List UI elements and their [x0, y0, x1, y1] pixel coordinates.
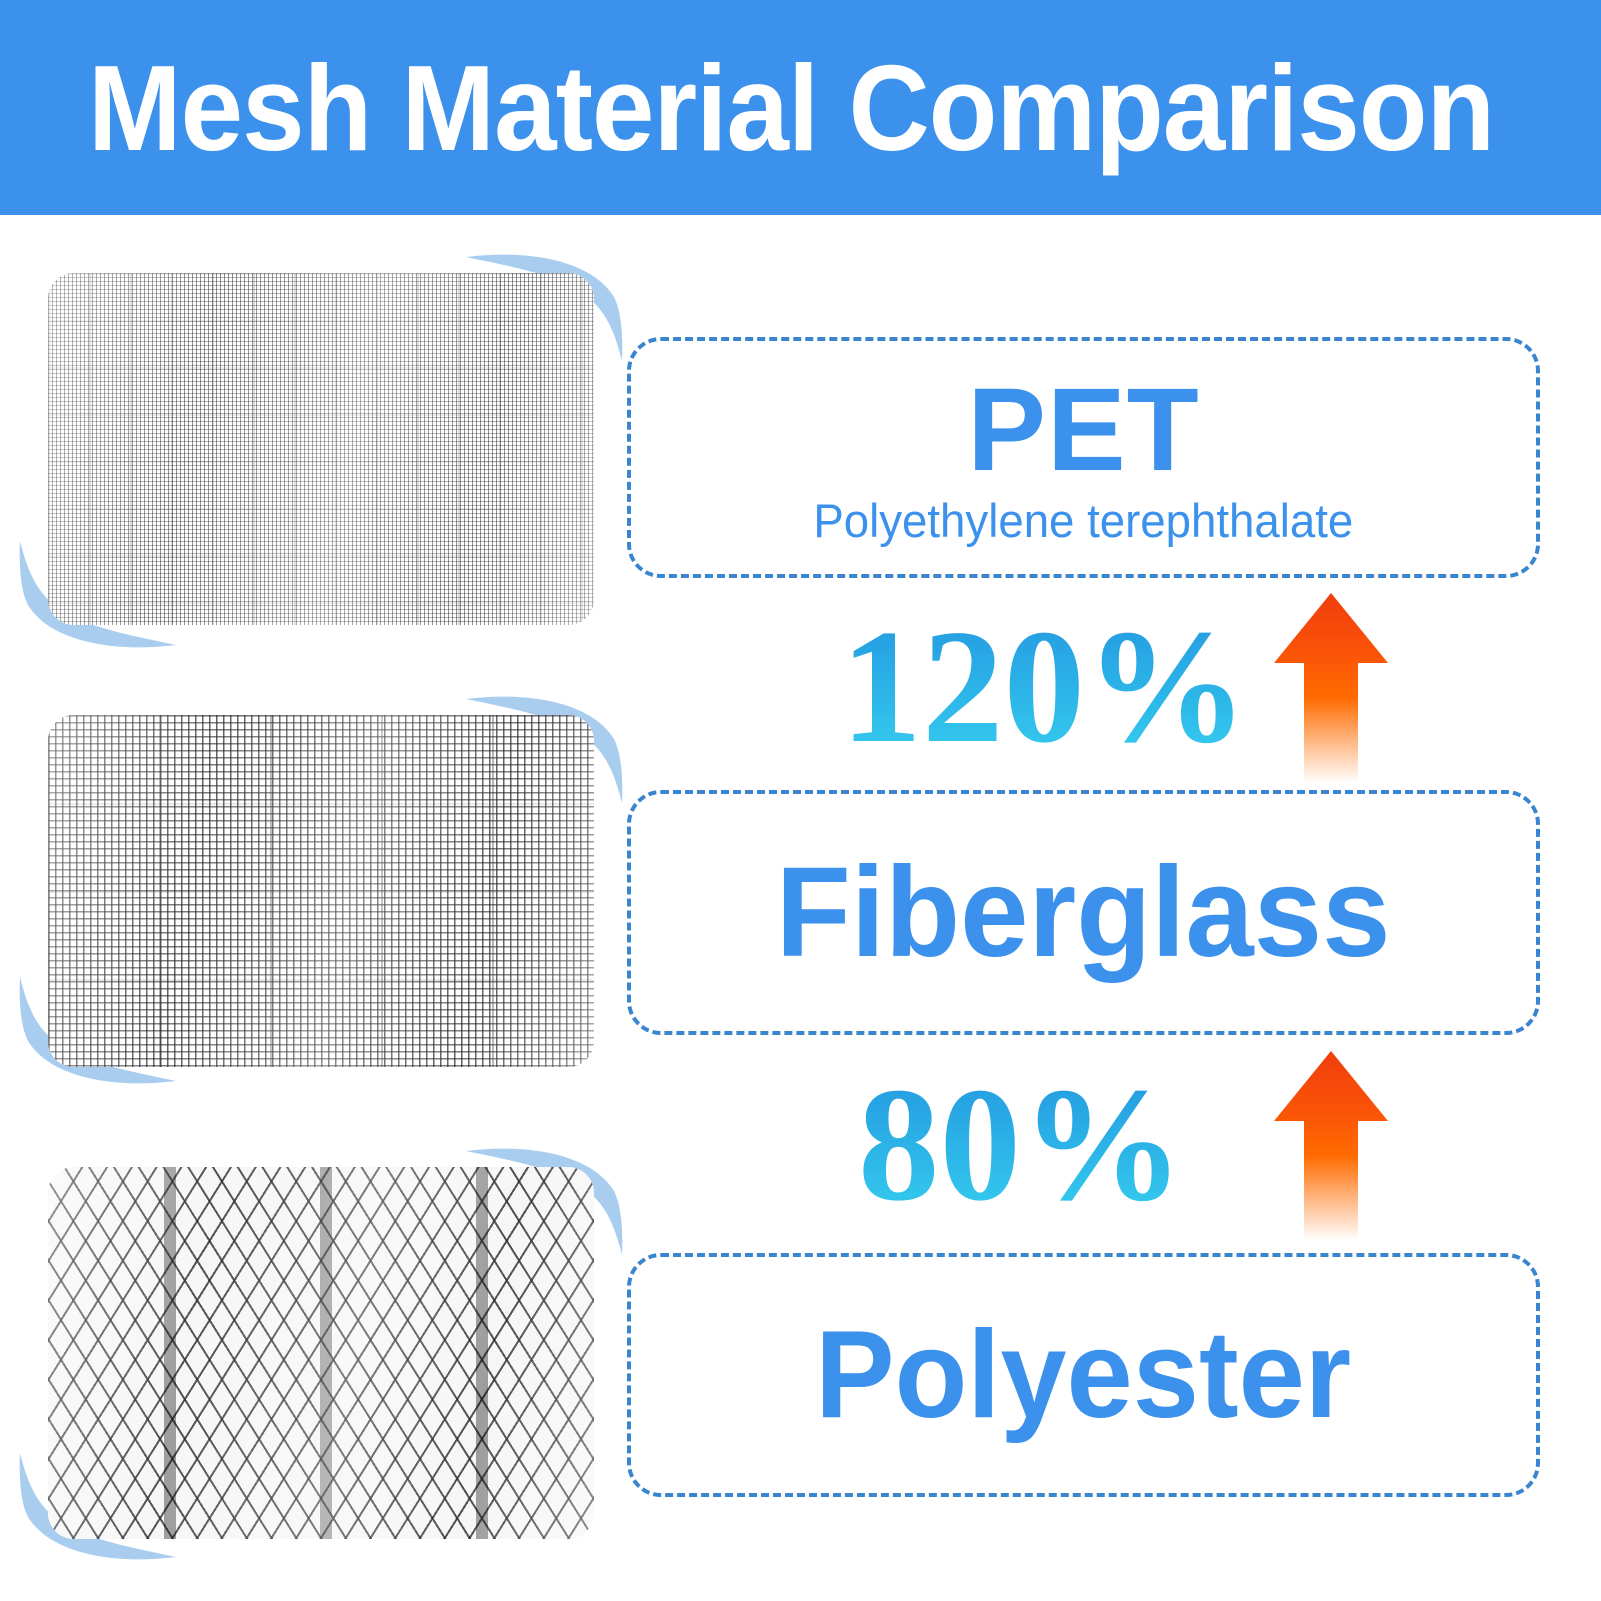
material-label-polyester[interactable]: Polyester — [627, 1253, 1540, 1497]
gain-row-pet-over-fiberglass: 120% — [627, 587, 1540, 787]
pet-mesh-swatch — [22, 251, 620, 651]
material-label-fiberglass[interactable]: Fiberglass — [627, 790, 1540, 1035]
gain-row-fiberglass-over-polyester: 80% — [627, 1045, 1540, 1245]
content-area: PET Polyethylene terephthalate 120% — [0, 215, 1601, 1601]
fiberglass-mesh-swatch — [22, 693, 620, 1087]
material-name: Fiberglass — [776, 849, 1391, 977]
material-subtitle: Polyethylene terephthalate — [814, 497, 1354, 544]
pet-mesh-photo — [48, 273, 594, 625]
mesh-weave-texture — [48, 273, 594, 625]
fiberglass-mesh-photo — [48, 715, 594, 1067]
mesh-weave-texture — [48, 715, 594, 1067]
material-name: Polyester — [816, 1313, 1352, 1437]
up-arrow-icon — [1270, 1047, 1392, 1243]
gain-percent-value: 120% — [841, 606, 1249, 769]
polyester-mesh-photo — [48, 1167, 594, 1539]
page-title: Mesh Material Comparison — [88, 47, 1494, 169]
up-arrow-icon — [1270, 589, 1392, 785]
mesh-weave-texture — [48, 1167, 594, 1539]
material-name: PET — [967, 371, 1200, 489]
polyester-mesh-swatch — [22, 1145, 620, 1563]
header-banner: Mesh Material Comparison — [0, 0, 1601, 215]
material-label-pet[interactable]: PET Polyethylene terephthalate — [627, 337, 1540, 578]
gain-percent-value: 80% — [858, 1064, 1184, 1227]
